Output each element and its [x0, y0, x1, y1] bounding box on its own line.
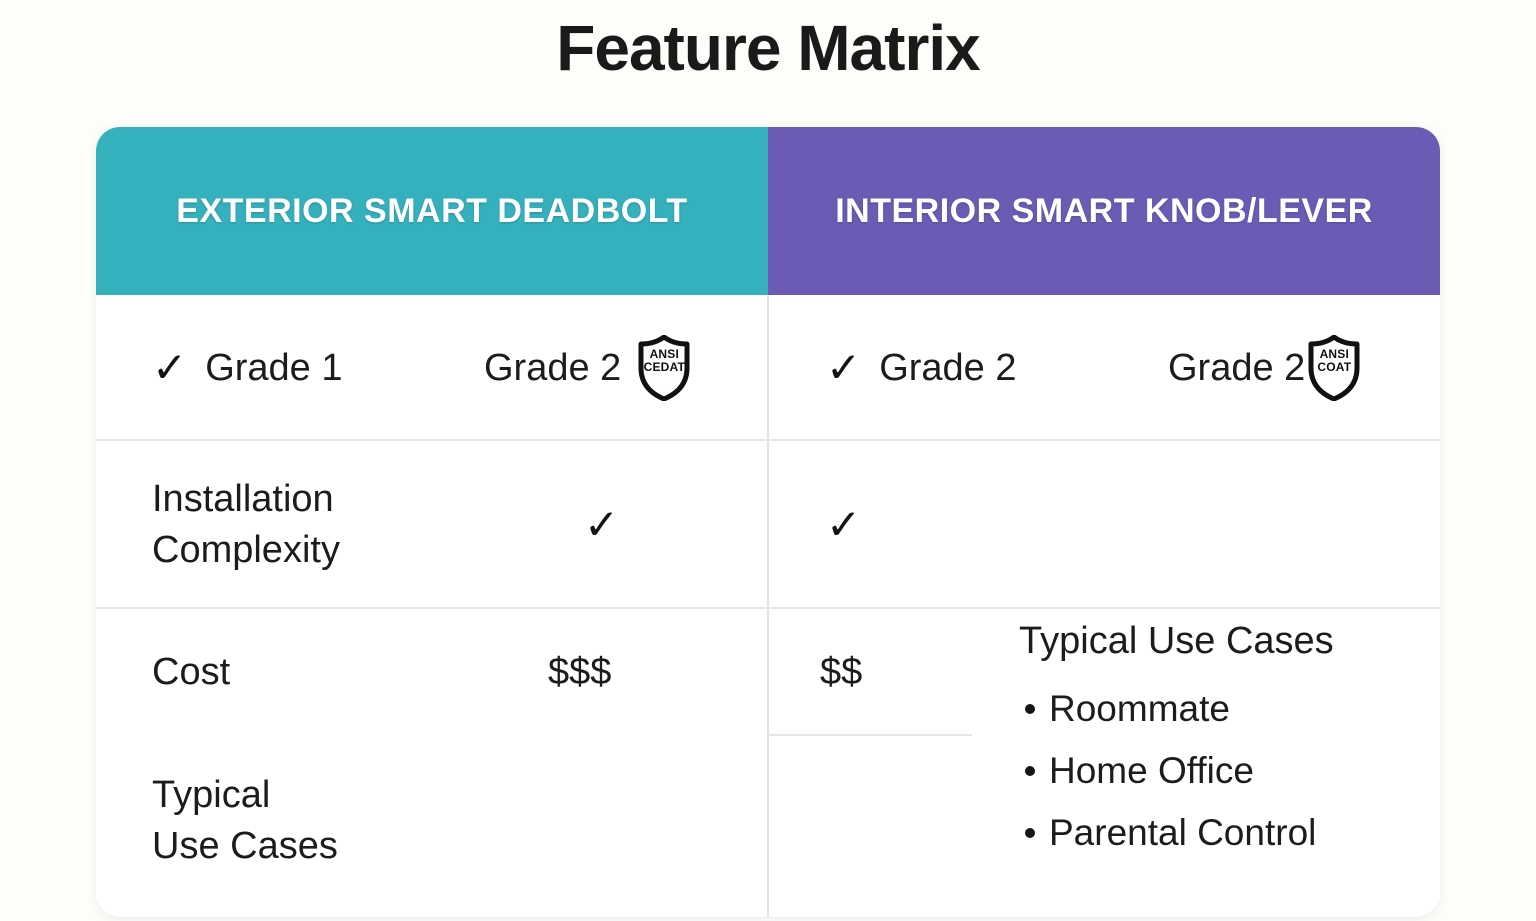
row-label: Typical Use Cases: [152, 770, 338, 872]
list-item-label: Parental Control: [1049, 802, 1316, 864]
grade-selected-value: Grade 2: [879, 343, 1016, 394]
bullet-icon: [1025, 828, 1035, 838]
column-header-exterior: EXTERIOR SMART DEADBOLT: [96, 127, 768, 295]
use-cases-title: Typical Use Cases: [1019, 616, 1440, 666]
bullet-icon: [1025, 704, 1035, 714]
grade-alt-value: Grade 2: [484, 343, 621, 394]
row-label: Installation Complexity: [152, 474, 340, 576]
table-row: ✓ Grade 1 Grade 2 ANSI CEDAT: [96, 295, 1440, 441]
ansi-shield-badge-icon: ANSI COAT: [1307, 335, 1361, 401]
typical-use-cases-block: Typical Use Cases Roommate Home Office P…: [1019, 616, 1440, 864]
ansi-shield-badge-icon: ANSI CEDAT: [637, 335, 691, 401]
cell-exterior-installation: Installation Complexity ✓: [96, 441, 768, 609]
cell-exterior-use-cases: Typical Use Cases: [96, 736, 768, 917]
list-item: Roommate: [1019, 678, 1440, 740]
cell-interior-grade: ✓ Grade 2 Grade 2 ANSI COAT: [768, 295, 1440, 441]
badge-line-2: COAT: [1307, 361, 1361, 374]
checkmark-icon: ✓: [826, 347, 861, 389]
row-label: Cost: [152, 647, 230, 698]
feature-matrix-page: Feature Matrix EXTERIOR SMART DEADBOLT I…: [0, 0, 1536, 921]
table-header-row: EXTERIOR SMART DEADBOLT INTERIOR SMART K…: [96, 127, 1440, 295]
list-item-label: Roommate: [1049, 678, 1230, 740]
use-cases-list: Roommate Home Office Parental Control: [1019, 678, 1440, 864]
cell-exterior-cost: Cost $$$: [96, 609, 768, 736]
table-body: ✓ Grade 1 Grade 2 ANSI CEDAT: [96, 295, 1440, 917]
checkmark-icon: ✓: [826, 504, 861, 546]
cost-value: $$: [820, 647, 862, 698]
table-row: Installation Complexity ✓ ✓: [96, 441, 1440, 609]
cost-value: $$$: [548, 647, 611, 698]
list-item: Parental Control: [1019, 802, 1440, 864]
comparison-table-card: EXTERIOR SMART DEADBOLT INTERIOR SMART K…: [96, 127, 1440, 917]
badge-line-2: CEDAT: [637, 361, 691, 374]
column-header-interior: INTERIOR SMART KNOB/LEVER: [768, 127, 1440, 295]
bullet-icon: [1025, 766, 1035, 776]
list-item: Home Office: [1019, 740, 1440, 802]
grade-alt-value: Grade 2: [1168, 343, 1305, 394]
list-item-label: Home Office: [1049, 740, 1254, 802]
checkmark-icon: ✓: [152, 347, 187, 389]
cell-exterior-grade: ✓ Grade 1 Grade 2 ANSI CEDAT: [96, 295, 768, 441]
page-title: Feature Matrix: [0, 8, 1536, 88]
cell-interior-installation: ✓: [768, 441, 1440, 609]
grade-selected-value: Grade 1: [205, 343, 342, 394]
checkmark-icon: ✓: [584, 504, 619, 546]
